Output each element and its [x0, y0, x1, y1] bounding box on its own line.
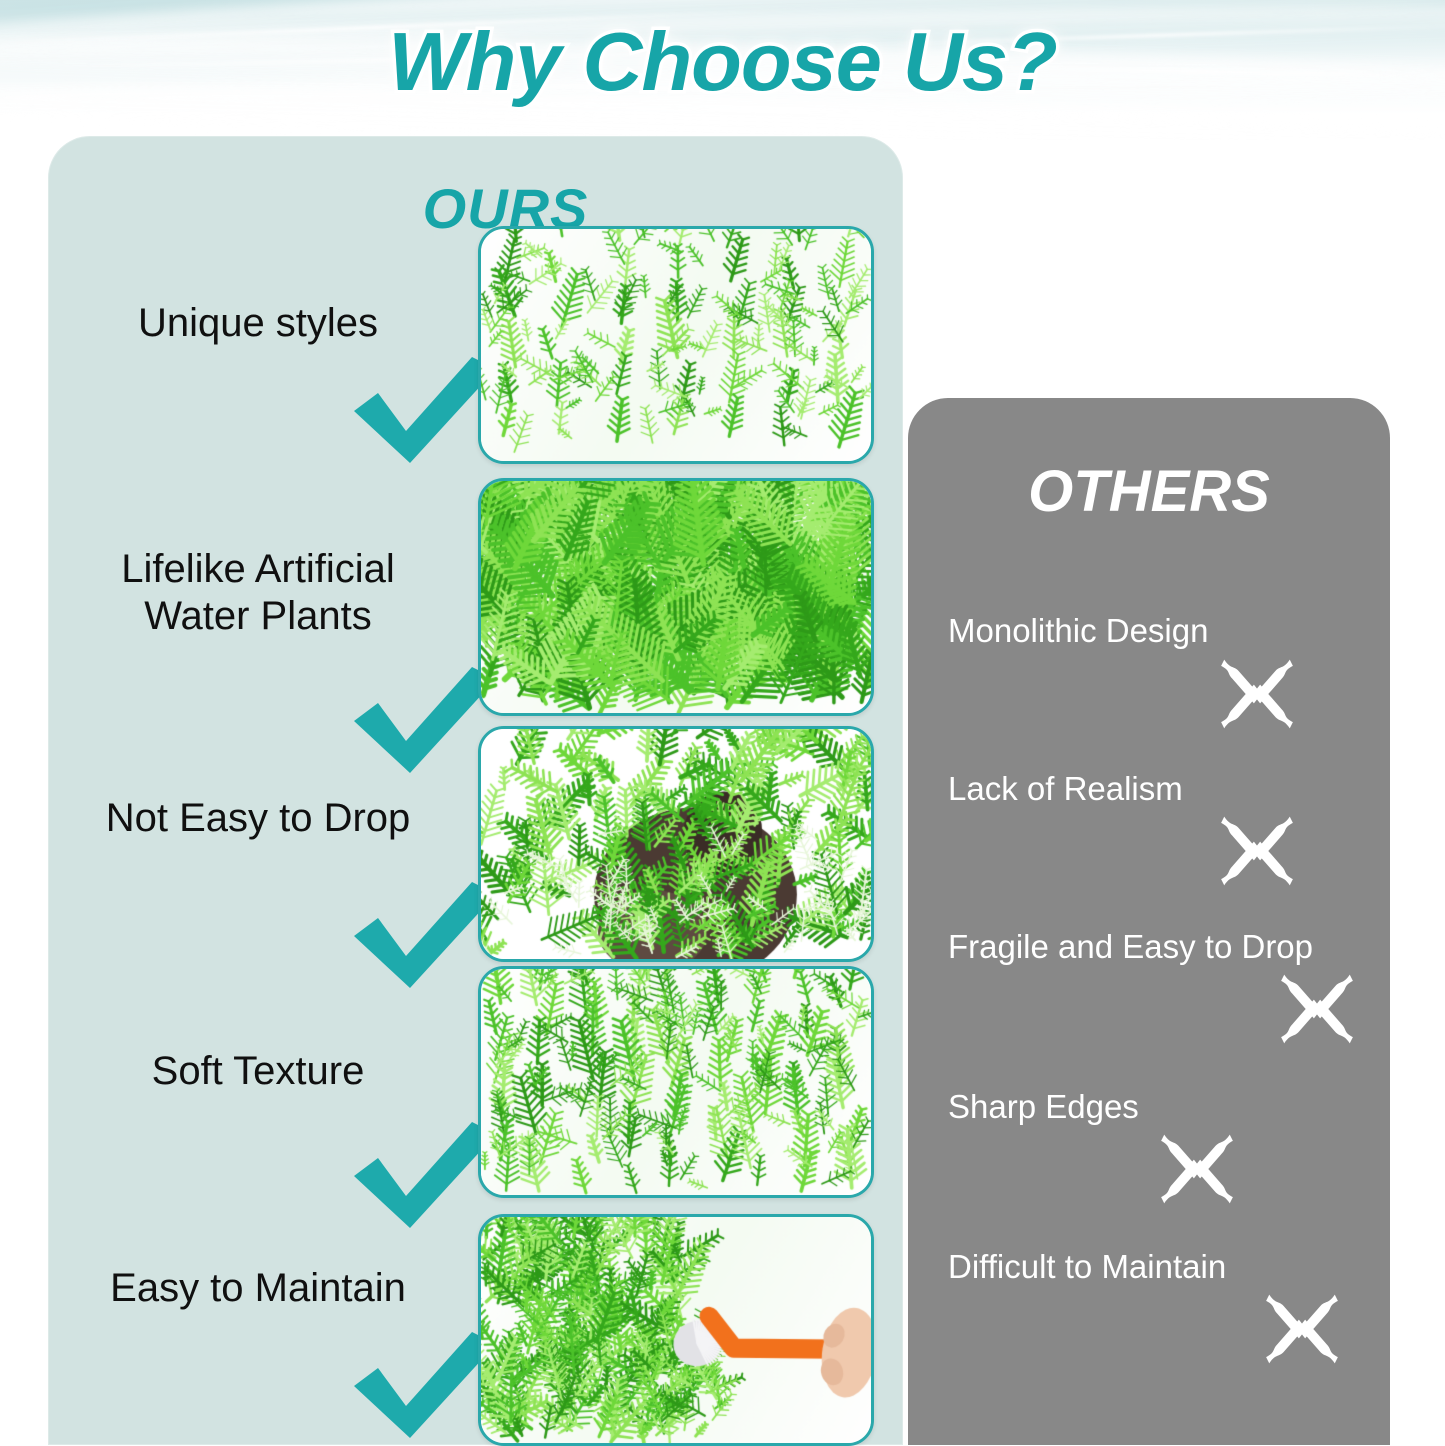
ours-check-icon	[348, 665, 498, 775]
ours-check-icon	[348, 1120, 498, 1230]
ours-check-icon	[348, 1330, 498, 1440]
others-panel: OTHERS Monolithic DesignLack of RealismF…	[908, 398, 1390, 1445]
check-icon	[348, 1330, 498, 1440]
others-item-label: Monolithic Design	[948, 612, 1208, 650]
ours-product-photo	[478, 726, 874, 962]
ours-item-label: Not Easy to Drop	[48, 795, 468, 842]
check-icon	[348, 1120, 498, 1230]
others-x-icon	[1218, 655, 1296, 733]
others-x-icon	[1278, 970, 1356, 1048]
others-item-label: Sharp Edges	[948, 1088, 1139, 1126]
x-icon	[1263, 1290, 1341, 1368]
others-x-icon	[1158, 1130, 1236, 1208]
ours-item-label: Unique styles	[48, 300, 468, 347]
check-icon	[348, 665, 498, 775]
ours-check-icon	[348, 355, 498, 465]
x-icon	[1278, 970, 1356, 1048]
ours-check-icon	[348, 880, 498, 990]
check-icon	[348, 880, 498, 990]
others-item-label: Lack of Realism	[948, 770, 1183, 808]
ours-product-photo	[478, 966, 874, 1198]
ours-panel: OURS Unique stylesLifelike ArtificialWat…	[48, 136, 903, 1445]
others-heading: OTHERS	[908, 458, 1390, 525]
ours-item-label: Easy to Maintain	[48, 1265, 468, 1312]
ours-item-label: Lifelike ArtificialWater Plants	[48, 546, 468, 640]
others-x-icon	[1263, 1290, 1341, 1368]
check-icon	[348, 355, 498, 465]
x-icon	[1218, 655, 1296, 733]
x-icon	[1158, 1130, 1236, 1208]
others-item-label: Difficult to Maintain	[948, 1248, 1226, 1286]
page-title: Why Choose Us?	[0, 14, 1445, 110]
ours-product-photo	[478, 1214, 874, 1446]
others-x-icon	[1218, 812, 1296, 890]
ours-product-photo	[478, 226, 874, 464]
x-icon	[1218, 812, 1296, 890]
others-item-label: Fragile and Easy to Drop	[948, 928, 1313, 966]
ours-product-photo	[478, 478, 874, 716]
ours-item-label: Soft Texture	[48, 1048, 468, 1095]
